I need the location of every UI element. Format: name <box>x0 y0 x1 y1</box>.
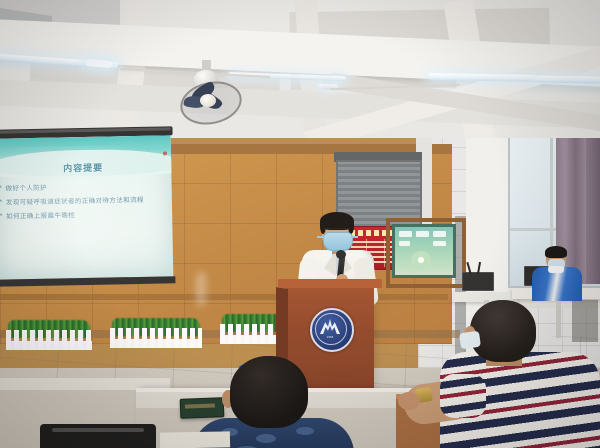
head <box>470 300 536 362</box>
fluorescent-light <box>536 75 600 83</box>
planter-box <box>110 318 202 348</box>
hand <box>398 392 420 410</box>
ceiling-fan-icon <box>176 60 240 120</box>
screen-glare <box>0 144 173 279</box>
equipment-case-highlight <box>52 428 144 432</box>
school-emblem: 1956 <box>310 308 354 352</box>
face-mask <box>459 331 481 350</box>
wall-stripe <box>0 294 448 300</box>
green-notice-board <box>392 224 456 278</box>
shirt-sleeve <box>440 374 486 418</box>
hair <box>545 246 567 258</box>
classroom-photo: 内容提要 做好个人防护 发现可疑呼吸道症状者的正确对待方法和流程 如何正确上报晨… <box>0 0 600 448</box>
person-attendee-right <box>430 296 600 448</box>
tile-blemish <box>196 272 206 306</box>
paper-sheet <box>160 431 230 448</box>
presentation-slide: 内容提要 做好个人防护 发现可疑呼吸道症状者的正确对待方法和流程 如何正确上报晨… <box>0 135 173 279</box>
notice-board-graphic <box>411 251 431 269</box>
head <box>230 356 308 428</box>
window-curtain <box>586 138 600 284</box>
emblem-year: 1956 <box>324 335 336 339</box>
screen-indicator <box>163 151 167 155</box>
face-mask <box>323 232 353 251</box>
person-technician <box>528 248 584 298</box>
fan-hub <box>200 94 216 107</box>
collar <box>548 266 564 273</box>
projector-screen: 内容提要 做好个人防护 发现可疑呼吸道症状者的正确对待方法和流程 如何正确上报晨… <box>0 126 176 289</box>
microphone-head <box>336 250 346 259</box>
planter-box <box>6 320 92 350</box>
monitor <box>462 272 494 291</box>
emblem-inner-ring <box>315 313 347 345</box>
podium-top <box>278 279 382 288</box>
